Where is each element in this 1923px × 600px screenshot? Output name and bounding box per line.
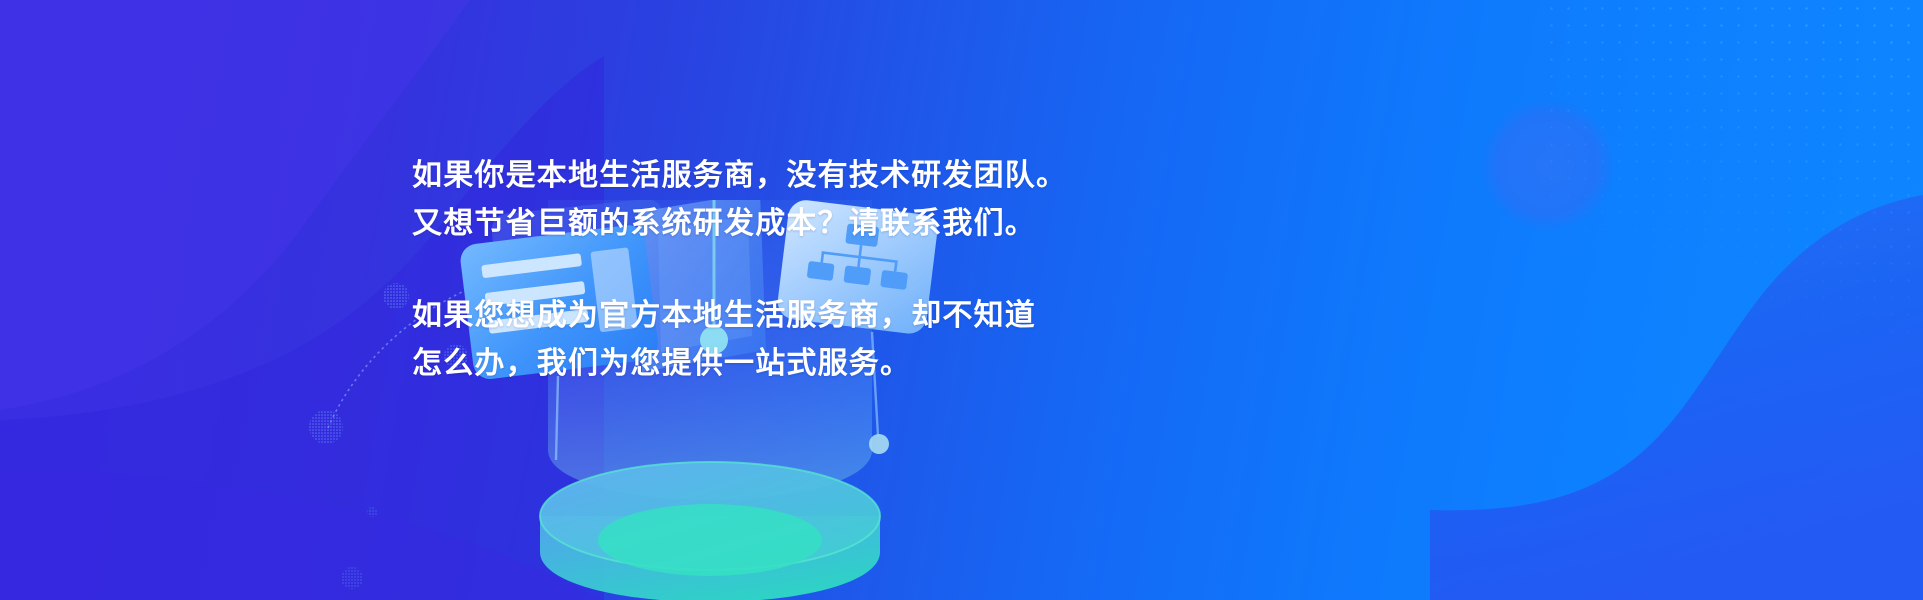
- dot-texture-right: [1543, 0, 1923, 400]
- headline-line-3: 如果您想成为官方本地生活服务商，却不知道: [412, 292, 1172, 340]
- connector-node: [869, 434, 889, 454]
- dotted-circle-tiny: [367, 507, 377, 517]
- headline-line-2: 又想节省巨额的系统研发成本？请联系我们。: [412, 200, 1172, 248]
- headline-line-1: 如果你是本地生活服务商，没有技术研发团队。: [412, 152, 1172, 200]
- disc-inner-core: [598, 504, 822, 576]
- headline-copy: 如果你是本地生活服务商，没有技术研发团队。 又想节省巨额的系统研发成本？请联系我…: [412, 152, 1172, 388]
- wave-bottom-left-wash: [0, 470, 600, 600]
- connector-line: [556, 376, 558, 460]
- headline-line-4: 怎么办，我们为您提供一站式服务。: [412, 340, 1172, 388]
- wave-left-highlight: [0, 0, 470, 410]
- cyan-platform-disc: [540, 462, 880, 600]
- dotted-circle-small-upper: [383, 283, 409, 309]
- soft-circle-right: [1481, 98, 1615, 232]
- wave-right: [1430, 195, 1923, 600]
- paragraph-2: 如果您想成为官方本地生活服务商，却不知道 怎么办，我们为您提供一站式服务。: [412, 292, 1172, 388]
- promo-banner: 如果你是本地生活服务商，没有技术研发团队。 又想节省巨额的系统研发成本？请联系我…: [0, 0, 1923, 600]
- dotted-circle-bottom: [341, 567, 363, 589]
- paragraph-1: 如果你是本地生活服务商，没有技术研发团队。 又想节省巨额的系统研发成本？请联系我…: [412, 152, 1172, 248]
- dotted-circle-large-lower: [309, 410, 343, 444]
